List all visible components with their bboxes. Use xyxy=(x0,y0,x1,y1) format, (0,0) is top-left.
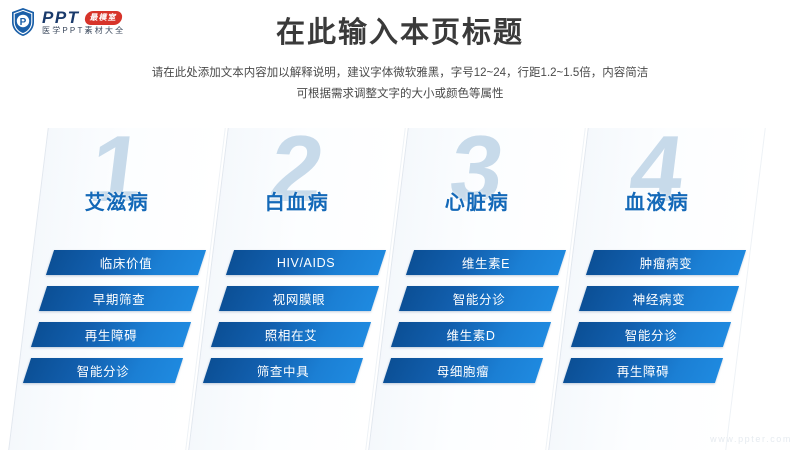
list-item[interactable]: 智能分诊 xyxy=(571,322,731,347)
list-item[interactable]: 再生障碍 xyxy=(31,322,191,347)
list-item[interactable]: 智能分诊 xyxy=(23,358,183,383)
list-item[interactable]: 维生素D xyxy=(391,322,551,347)
list-item[interactable]: 视网膜眼 xyxy=(219,286,379,311)
list-item-label: 智能分诊 xyxy=(27,358,179,383)
list-item[interactable]: 早期筛查 xyxy=(39,286,199,311)
list-item-label: 视网膜眼 xyxy=(223,286,375,311)
list-item-label: 智能分诊 xyxy=(575,322,727,347)
list-item-label: 筛查中具 xyxy=(207,358,359,383)
column-item-list: 维生素E 智能分诊 维生素D 母细胞瘤 xyxy=(384,250,570,394)
column-4: 4 血液病 肿瘤病变 神经病变 智能分诊 再生障碍 xyxy=(564,128,750,450)
column-1: 1 艾滋病 临床价值 早期筛查 再生障碍 智能分诊 xyxy=(24,128,210,450)
column-2: 2 白血病 HIV/AIDS 视网膜眼 照相在艾 筛查中具 xyxy=(204,128,390,450)
list-item[interactable]: 照相在艾 xyxy=(211,322,371,347)
page-subtitle: 请在此处添加文本内容加以解释说明，建议字体微软雅黑，字号12~24，行距1.2~… xyxy=(0,63,800,106)
subtitle-line-1: 请在此处添加文本内容加以解释说明，建议字体微软雅黑，字号12~24，行距1.2~… xyxy=(0,63,800,84)
list-item-label: 再生障碍 xyxy=(35,322,187,347)
subtitle-line-2: 可根据需求调整文字的大小或颜色等属性 xyxy=(0,84,800,105)
list-item[interactable]: 维生素E xyxy=(406,250,566,275)
list-item-label: 再生障碍 xyxy=(567,358,719,383)
list-item-label: 神经病变 xyxy=(583,286,735,311)
column-3: 3 心脏病 维生素E 智能分诊 维生素D 母细胞瘤 xyxy=(384,128,570,450)
column-heading: 心脏病 xyxy=(384,186,570,215)
list-item-label: 母细胞瘤 xyxy=(387,358,539,383)
list-item-label: 智能分诊 xyxy=(403,286,555,311)
list-item-label: 临床价值 xyxy=(50,250,202,275)
column-item-list: HIV/AIDS 视网膜眼 照相在艾 筛查中具 xyxy=(204,250,390,394)
column-heading: 白血病 xyxy=(204,186,390,215)
list-item[interactable]: 再生障碍 xyxy=(563,358,723,383)
column-heading: 血液病 xyxy=(564,186,750,215)
list-item[interactable]: 肿瘤病变 xyxy=(586,250,746,275)
list-item-label: 维生素E xyxy=(410,250,562,275)
column-item-list: 临床价值 早期筛查 再生障碍 智能分诊 xyxy=(24,250,210,394)
list-item[interactable]: 智能分诊 xyxy=(399,286,559,311)
columns-container: 1 艾滋病 临床价值 早期筛查 再生障碍 智能分诊 2 白血病 HIV/AIDS… xyxy=(0,128,800,450)
page-title: 在此输入本页标题 xyxy=(0,16,800,51)
list-item-label: 早期筛查 xyxy=(43,286,195,311)
column-heading: 艾滋病 xyxy=(24,186,210,215)
list-item[interactable]: 母细胞瘤 xyxy=(383,358,543,383)
list-item[interactable]: 临床价值 xyxy=(46,250,206,275)
list-item-label: 维生素D xyxy=(395,322,547,347)
list-item[interactable]: 筛查中具 xyxy=(203,358,363,383)
watermark: www.ppter.com xyxy=(710,434,792,444)
list-item[interactable]: HIV/AIDS xyxy=(226,250,386,275)
slide-canvas: P PPT 最模室 医学PPT素材大全 在此输入本页标题 请在此处添加文本内容加… xyxy=(0,0,800,450)
list-item[interactable]: 神经病变 xyxy=(579,286,739,311)
list-item-label: 照相在艾 xyxy=(215,322,367,347)
column-item-list: 肿瘤病变 神经病变 智能分诊 再生障碍 xyxy=(564,250,750,394)
list-item-label: HIV/AIDS xyxy=(230,250,382,275)
list-item-label: 肿瘤病变 xyxy=(590,250,742,275)
